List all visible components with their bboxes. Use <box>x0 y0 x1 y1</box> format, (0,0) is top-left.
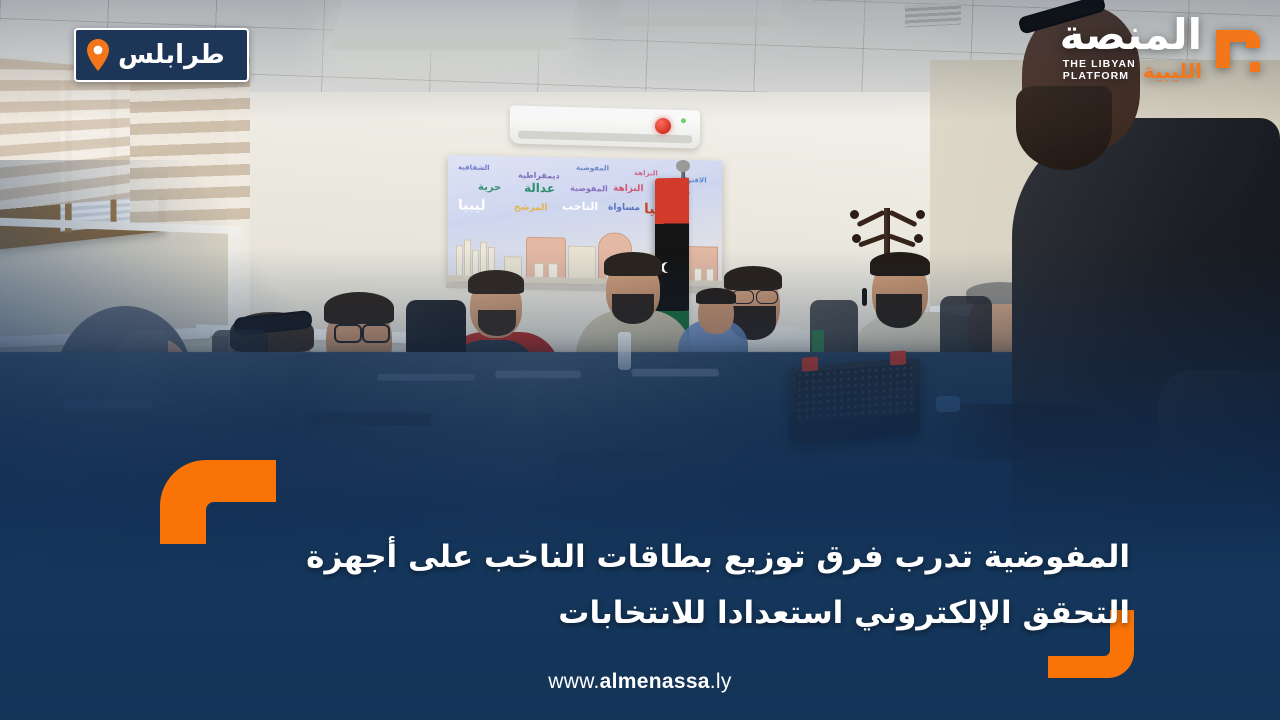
brand-english-line2: PLATFORM <box>1063 71 1129 83</box>
site-url[interactable]: www.almenassa.ly <box>0 670 1280 694</box>
site-url-prefix: www. <box>548 670 599 693</box>
site-url-brand: almenassa <box>600 670 710 693</box>
brand-english-line1: THE LIBYAN <box>1063 59 1136 71</box>
table-remote <box>304 413 432 426</box>
headline: المفوضية تدرب فرق توزيع بطاقات الناخب عل… <box>210 529 1130 641</box>
presenter-pointing-hand <box>930 404 1110 460</box>
equipment-case <box>790 357 920 444</box>
coat-rack-knob <box>914 234 923 243</box>
ac-indicator-light <box>681 118 686 123</box>
water-bottle <box>618 332 631 370</box>
table-document <box>631 369 719 377</box>
table-cable <box>554 450 731 489</box>
location-pin-icon <box>86 39 110 71</box>
presenter-arm <box>1158 370 1280 500</box>
table-document <box>495 370 581 378</box>
ceiling-light-panel <box>330 0 579 50</box>
case-foam-lining <box>796 364 914 422</box>
air-conditioner <box>510 105 700 148</box>
news-card: الشفافية ديمقراطية المفوضية النزاهة الاق… <box>0 0 1280 720</box>
case-latch <box>802 357 818 372</box>
brand-english-block: THE LIBYAN PLATFORM <box>1063 59 1136 82</box>
brand-arabic-main: المنصة <box>1060 14 1202 56</box>
green-bottle <box>812 330 824 352</box>
flag-pole-finial <box>676 160 690 172</box>
ceiling-vent <box>905 3 961 28</box>
case-latch <box>890 350 906 365</box>
fire-alarm-icon <box>655 118 671 134</box>
location-badge-label: طرابلس <box>118 42 225 68</box>
wristwatch <box>936 396 960 412</box>
coat-rack-knob <box>850 210 859 219</box>
ceiling-light-panel <box>618 0 783 26</box>
window-blinds <box>130 58 250 226</box>
site-url-suffix: .ly <box>710 670 732 693</box>
table-document <box>61 400 153 409</box>
coat-rack-knob <box>916 210 925 219</box>
ceiling-light-panel <box>799 4 922 22</box>
brand-text-block: المنصة THE LIBYAN PLATFORM الليبية <box>1060 14 1202 82</box>
location-badge[interactable]: طرابلس <box>74 28 249 82</box>
table-document <box>377 374 475 381</box>
brand-logo[interactable]: المنصة THE LIBYAN PLATFORM الليبية <box>1060 14 1266 82</box>
brand-subtitle-row: THE LIBYAN PLATFORM الليبية <box>1063 59 1202 82</box>
headset-mic-icon <box>862 288 867 306</box>
brand-mark-icon <box>1208 18 1266 76</box>
coat-rack-knob <box>852 234 861 243</box>
brand-arabic-sub: الليبية <box>1143 61 1202 81</box>
